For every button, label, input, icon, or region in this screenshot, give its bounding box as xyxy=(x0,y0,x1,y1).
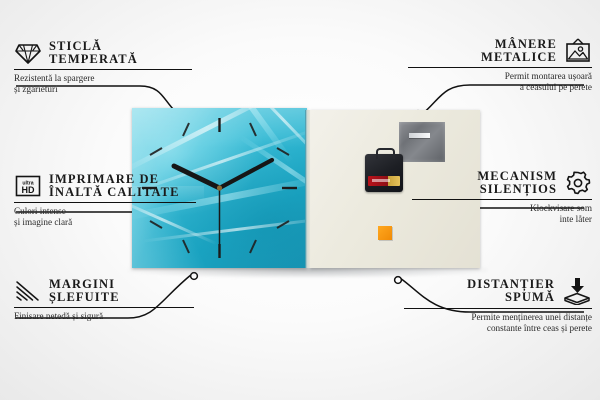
feature-subtitle-line1: Klockvisare som xyxy=(412,203,592,215)
feature-title-line2: TEMPERATĂ xyxy=(49,53,138,66)
feature-tempered-glass: STICLĂ TEMPERATĂ Rezistentă la spargere … xyxy=(14,40,192,96)
feature-subtitle-line1: Finisare netedă și sigură xyxy=(14,311,194,323)
feature-rule xyxy=(14,69,192,70)
feature-subtitle-line2: constante între ceas și perete xyxy=(404,323,592,335)
feature-silent-mechanism: MECANISM SILENȚIOS Klockvisare som inte … xyxy=(412,170,592,226)
hanger-slot xyxy=(409,133,430,138)
feature-title-line2: ÎNALTĂ CALITATE xyxy=(49,186,180,199)
feature-polished-edges: MARGINI ȘLEFUITE Finisare netedă și sigu… xyxy=(14,278,194,322)
feature-subtitle-line2: a ceasului pe perete xyxy=(408,82,592,94)
hanging-picture-frame-icon xyxy=(564,38,592,64)
feature-subtitle-line1: Rezistentă la spargere xyxy=(14,73,192,85)
battery xyxy=(368,176,400,186)
infographic-canvas: STICLĂ TEMPERATĂ Rezistentă la spargere … xyxy=(0,0,600,400)
feature-rule xyxy=(404,308,592,309)
hatched-triangle-icon xyxy=(14,279,42,303)
feature-subtitle-line2: și zgârieturi xyxy=(14,84,192,96)
battery-label xyxy=(372,179,390,182)
feature-title-line2: ȘLEFUITE xyxy=(49,291,120,304)
feature-title-line2: SILENȚIOS xyxy=(480,183,557,196)
feature-rule xyxy=(408,67,592,68)
feature-rule xyxy=(412,199,592,200)
minute-hand xyxy=(220,160,273,188)
glass-edge-strip xyxy=(305,110,310,268)
feature-rule xyxy=(14,307,194,308)
feature-subtitle-line2: și imagine clară xyxy=(14,217,196,229)
foam-spacer-pad xyxy=(378,226,392,240)
clock-mechanism xyxy=(365,154,403,192)
ultra-hd-badge-icon: ultra HD xyxy=(14,174,42,198)
gear-icon xyxy=(564,170,592,196)
svg-text:HD: HD xyxy=(22,185,35,195)
diamond-icon xyxy=(14,41,42,65)
feature-subtitle-line1: Permit montarea ușoară xyxy=(408,71,592,83)
arrow-onto-pad-icon xyxy=(562,277,592,305)
feature-rule xyxy=(14,202,196,203)
feature-foam-spacer: DISTANȚIER SPUMĂ Permite menținerea unei… xyxy=(404,277,592,335)
feature-subtitle-line1: Culori intense xyxy=(14,206,196,218)
feature-title-line2: SPUMĂ xyxy=(505,291,555,304)
feature-subtitle-line2: inte låter xyxy=(412,214,592,226)
feature-subtitle-line1: Permite menținerea unei distanțe xyxy=(404,312,592,324)
feature-metal-handles: MÂNERE METALICE Permit montarea ușoară a… xyxy=(408,38,592,94)
feature-title-line2: METALICE xyxy=(481,51,557,64)
mechanism-hanging-loop xyxy=(376,148,395,159)
clock-center-cap xyxy=(217,185,222,190)
metal-hanger-plate xyxy=(399,122,445,162)
feature-high-quality-print: ultra HD IMPRIMARE DE ÎNALTĂ CALITATE Cu… xyxy=(14,173,196,229)
